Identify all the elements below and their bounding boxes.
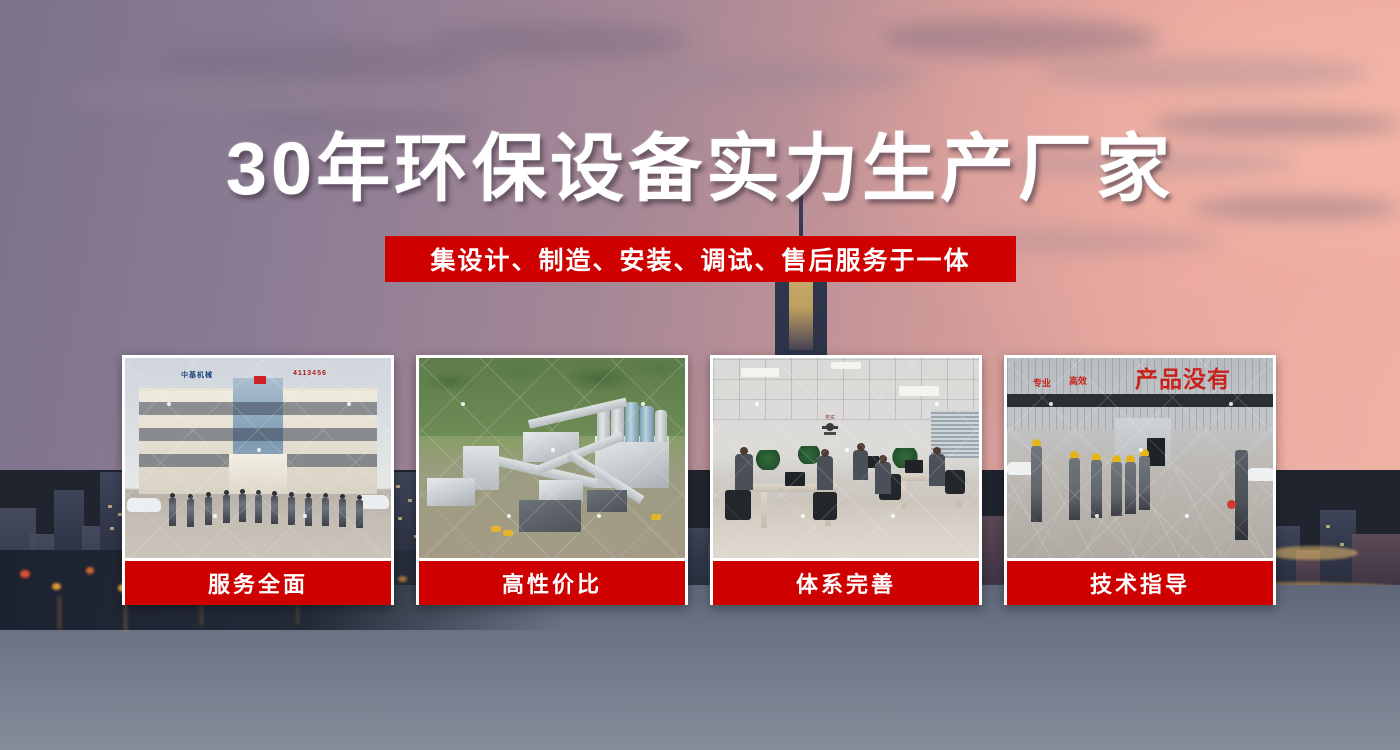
worker-figure <box>1031 446 1042 522</box>
figure-head <box>272 491 277 496</box>
plant-building <box>539 480 583 502</box>
ceiling-light-panel <box>831 362 861 369</box>
figure-head <box>821 449 829 457</box>
riverbank-light <box>20 570 30 578</box>
worker-figure <box>1069 458 1080 520</box>
staff-figure <box>187 499 194 527</box>
worker-figure <box>1091 460 1102 518</box>
company-headquarters-photo: 中基机械 4113456 <box>125 358 391 558</box>
watermark-node <box>1095 514 1099 518</box>
ceiling-light-panel <box>899 386 939 396</box>
watermark-node <box>755 402 759 406</box>
subtitle-text: 集设计、制造、安装、调试、售后服务于一体 <box>430 241 970 277</box>
staff-figure <box>239 494 246 522</box>
riverbank-light <box>52 583 61 590</box>
staff-figure <box>271 496 278 524</box>
figure-head <box>240 489 245 494</box>
building-phone-text: 4113456 <box>293 370 327 377</box>
water-reflection <box>58 596 61 630</box>
building-window-light <box>1340 543 1344 546</box>
figure-head <box>357 495 362 500</box>
staff-figure <box>288 497 295 525</box>
feature-card-label: 体系完善 <box>713 561 979 605</box>
factory-slogan-main: 产品没有 <box>1135 360 1231 394</box>
figure-head <box>933 447 941 455</box>
parked-car <box>1247 468 1273 481</box>
feature-card-label: 技术指导 <box>1007 561 1273 605</box>
staff-figure <box>169 498 176 526</box>
window-row <box>139 428 377 441</box>
feature-card-label-text: 服务全面 <box>208 567 308 599</box>
potted-plant <box>755 450 781 470</box>
figure-head <box>224 490 229 495</box>
plant-shed <box>519 500 581 532</box>
feature-card[interactable]: 中基机械 4113456 <box>122 355 394 605</box>
factory-slogan-secondary: 专业 <box>1033 376 1051 389</box>
feature-card-label-text: 体系完善 <box>796 567 896 599</box>
cloud-shape <box>160 40 480 84</box>
red-helmet-icon <box>1227 500 1236 509</box>
figure-head <box>256 490 261 495</box>
cloud-shape <box>880 18 1160 58</box>
office-desk <box>901 481 906 509</box>
figure-head <box>879 455 887 463</box>
feature-card-label-text: 技术指导 <box>1090 567 1190 599</box>
building-window-light <box>110 527 114 530</box>
production-plant-aerial-photo <box>419 358 685 558</box>
staff-figure <box>255 495 262 523</box>
factory-slogan-tertiary: 高效 <box>1069 374 1087 387</box>
office-chair <box>945 470 965 494</box>
parked-car <box>127 498 161 512</box>
office-worker <box>929 454 945 486</box>
flag-icon <box>254 376 266 384</box>
cloud-shape <box>430 22 690 60</box>
office-worker <box>853 450 868 480</box>
cement-silo <box>655 410 667 442</box>
feature-card-list: 中基机械 4113456 <box>122 355 1278 605</box>
staff-figure <box>205 497 212 525</box>
riverbank-light <box>86 567 94 574</box>
worker-figure <box>1111 462 1122 516</box>
office-desk <box>761 492 767 528</box>
cloud-shape <box>1040 56 1370 90</box>
figure-head <box>857 443 865 451</box>
watermark-node <box>213 514 217 518</box>
office-chair <box>813 492 837 520</box>
figure-head <box>323 493 328 498</box>
watermark-node <box>1229 402 1233 406</box>
subtitle-banner: 集设计、制造、安装、调试、售后服务于一体 <box>385 236 1016 282</box>
building-sign-text: 中基机械 <box>181 370 213 380</box>
staff-figure <box>305 498 312 526</box>
watermark-node <box>891 514 895 518</box>
ceiling-light-panel <box>741 368 779 377</box>
watermark-node <box>1185 514 1189 518</box>
computer-monitor <box>785 472 805 486</box>
office-worker <box>875 462 891 494</box>
cloud-shape <box>620 62 920 92</box>
safety-helmet-icon <box>1032 439 1041 446</box>
plant-building <box>427 478 475 506</box>
safety-helmet-icon <box>1112 455 1121 462</box>
cement-silo <box>625 402 639 442</box>
promo-banner: 30年环保设备实力生产厂家 集设计、制造、安装、调试、售后服务于一体 中基机械 … <box>0 0 1400 750</box>
plant-shed <box>587 490 627 512</box>
building-window-light <box>1326 525 1330 528</box>
watermark-node <box>597 514 601 518</box>
staff-figure <box>356 500 363 528</box>
watermark-node <box>801 514 805 518</box>
svg-text:务实: 务实 <box>825 414 835 421</box>
figure-head <box>306 493 311 498</box>
office-floor <box>713 498 979 558</box>
cloud-shape <box>60 78 480 112</box>
feature-card-label-text: 高性价比 <box>502 567 602 599</box>
office-chair <box>725 490 751 520</box>
window-row <box>139 402 377 415</box>
figure-head <box>340 494 345 499</box>
excavator <box>651 514 661 520</box>
watermark-node <box>507 514 511 518</box>
feature-card-label: 服务全面 <box>125 561 391 605</box>
office-worker <box>735 454 753 490</box>
staff-figure <box>223 495 230 523</box>
office-interior-photo: 务实 <box>713 358 979 558</box>
watermark-node <box>347 402 351 406</box>
feature-card-label: 高性价比 <box>419 561 685 605</box>
watermark-node <box>167 402 171 406</box>
building-window-light <box>108 505 112 508</box>
watermark-node <box>845 448 849 452</box>
headline-title: 30年环保设备实力生产厂家 <box>0 132 1400 206</box>
worker-figure <box>1125 462 1136 514</box>
watermark-node <box>1139 448 1143 452</box>
watermark-node <box>303 514 307 518</box>
excavator <box>503 530 513 536</box>
computer-monitor <box>905 460 923 473</box>
watermark-node <box>551 448 555 452</box>
watermark-node <box>257 448 261 452</box>
watermark-node <box>1049 402 1053 406</box>
safety-helmet-icon <box>1092 453 1101 460</box>
feature-card[interactable]: 高性价比 <box>416 355 688 605</box>
supervisor-figure <box>1235 450 1248 540</box>
feature-card[interactable]: 产品没有 专业 高效 <box>1004 355 1276 605</box>
staff-figure <box>339 499 346 527</box>
wall-logo-icon: 务实 <box>813 412 847 438</box>
staff-figure <box>322 498 329 526</box>
safety-helmet-icon <box>1070 451 1079 458</box>
worker-figure <box>1139 456 1150 510</box>
facade-window-band <box>1007 394 1273 407</box>
figure-head <box>188 494 193 499</box>
workshop-training-photo: 产品没有 专业 高效 <box>1007 358 1273 558</box>
watermark-node <box>461 402 465 406</box>
feature-card[interactable]: 务实 <box>710 355 982 605</box>
street-glow <box>1268 546 1358 560</box>
figure-head <box>206 492 211 497</box>
excavator <box>491 526 501 532</box>
figure-head <box>170 493 175 498</box>
watermark-node <box>935 402 939 406</box>
figure-head <box>289 492 294 497</box>
office-worker <box>817 456 833 490</box>
safety-helmet-icon <box>1126 455 1135 462</box>
watermark-node <box>641 402 645 406</box>
figure-head <box>740 447 748 455</box>
cement-silo <box>640 406 654 442</box>
